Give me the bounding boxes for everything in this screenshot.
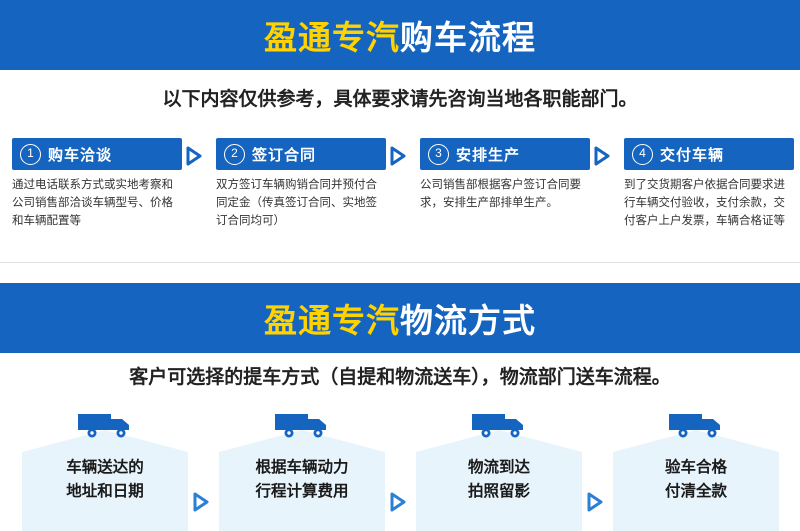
arrow-right-icon-1	[186, 146, 206, 164]
step-number-3: 3	[428, 144, 449, 165]
logistics-step-4-line1: 验车合格	[613, 456, 779, 480]
logistics-step-4-text: 验车合格 付清全款	[613, 456, 779, 504]
logistics-step-4: 验车合格 付清全款	[613, 408, 779, 531]
logistics-step-2: 根据车辆动力 行程计算费用	[219, 408, 385, 531]
truck-icon-3	[470, 408, 528, 440]
logistics-step-1: 车辆送达的 地址和日期	[22, 408, 188, 531]
flow-step-4-title: 交付车辆	[660, 144, 724, 165]
arrow-right-icon-4	[193, 492, 215, 512]
step-number-2: 2	[224, 144, 245, 165]
section-1-subtitle: 以下内容仅供参考，具体要求请先咨询当地各职能部门。	[0, 84, 800, 111]
arrow-right-icon-6	[587, 492, 609, 512]
flow-step-1-header: 1 购车洽谈	[12, 138, 182, 170]
step-number-1: 1	[20, 144, 41, 165]
arrow-right-icon-5	[390, 492, 412, 512]
logistics-step-4-line2: 付清全款	[613, 480, 779, 504]
section-1-title-rest: 购车流程	[400, 19, 536, 56]
truck-icon-2	[273, 408, 331, 440]
section-divider	[0, 262, 800, 263]
truck-icon-1	[76, 408, 134, 440]
flow-step-4-header: 4 交付车辆	[624, 138, 794, 170]
flow-step-2-body: 双方签订车辆购销合同并预付合同定金（传真签订合同、实地签订合同均可）	[216, 177, 386, 230]
section-2-title-highlight: 盈通专汽	[264, 302, 400, 339]
flow-step-1-title: 购车洽谈	[48, 144, 112, 165]
flow-step-3-body: 公司销售部根据客户签订合同要求，安排生产部排单生产。	[420, 177, 590, 213]
flow-step-2: 2 签订合同 双方签订车辆购销合同并预付合同定金（传真签订合同、实地签订合同均可…	[216, 138, 386, 230]
section-2-title-rest: 物流方式	[400, 302, 536, 339]
section-1-title-highlight: 盈通专汽	[264, 19, 400, 56]
logistics-step-3-text: 物流到达 拍照留影	[416, 456, 582, 504]
section-1-title-band: 盈通专汽购车流程	[0, 0, 800, 70]
flow-step-4-body: 到了交货期客户依据合同要求进行车辆交付验收，支付余款，交付客户上户发票，车辆合格…	[624, 177, 794, 230]
flow-step-3-title: 安排生产	[456, 144, 520, 165]
logistics-step-3-line1: 物流到达	[416, 456, 582, 480]
flow-step-2-header: 2 签订合同	[216, 138, 386, 170]
section-2-title-band: 盈通专汽物流方式	[0, 283, 800, 353]
section-2-title: 盈通专汽物流方式	[264, 294, 536, 342]
logistics-step-1-text: 车辆送达的 地址和日期	[22, 456, 188, 504]
purchase-flow: 1 购车洽谈 通过电话联系方式或实地考察和公司销售部洽谈车辆型号、价格和车辆配置…	[0, 138, 800, 248]
flow-step-1: 1 购车洽谈 通过电话联系方式或实地考察和公司销售部洽谈车辆型号、价格和车辆配置…	[12, 138, 182, 230]
flow-step-4: 4 交付车辆 到了交货期客户依据合同要求进行车辆交付验收，支付余款，交付客户上户…	[624, 138, 794, 230]
arrow-right-icon-2	[390, 146, 410, 164]
logistics-step-2-text: 根据车辆动力 行程计算费用	[219, 456, 385, 504]
truck-icon-4	[667, 408, 725, 440]
logistics-step-1-line2: 地址和日期	[22, 480, 188, 504]
logistics-step-2-line1: 根据车辆动力	[219, 456, 385, 480]
flow-step-3: 3 安排生产 公司销售部根据客户签订合同要求，安排生产部排单生产。	[420, 138, 590, 213]
logistics-step-1-line1: 车辆送达的	[22, 456, 188, 480]
logistics-step-3: 物流到达 拍照留影	[416, 408, 582, 531]
section-1-title: 盈通专汽购车流程	[264, 11, 536, 59]
flow-step-1-body: 通过电话联系方式或实地考察和公司销售部洽谈车辆型号、价格和车辆配置等	[12, 177, 182, 230]
flow-step-3-header: 3 安排生产	[420, 138, 590, 170]
arrow-right-icon-3	[594, 146, 614, 164]
logistics-flow: 车辆送达的 地址和日期 根据车辆动力 行程计算费用	[0, 408, 800, 531]
step-number-4: 4	[632, 144, 653, 165]
flow-step-2-title: 签订合同	[252, 144, 316, 165]
section-2-subtitle: 客户可选择的提车方式（自提和物流送车），物流部门送车流程。	[0, 362, 800, 389]
logistics-step-3-line2: 拍照留影	[416, 480, 582, 504]
logistics-step-2-line2: 行程计算费用	[219, 480, 385, 504]
